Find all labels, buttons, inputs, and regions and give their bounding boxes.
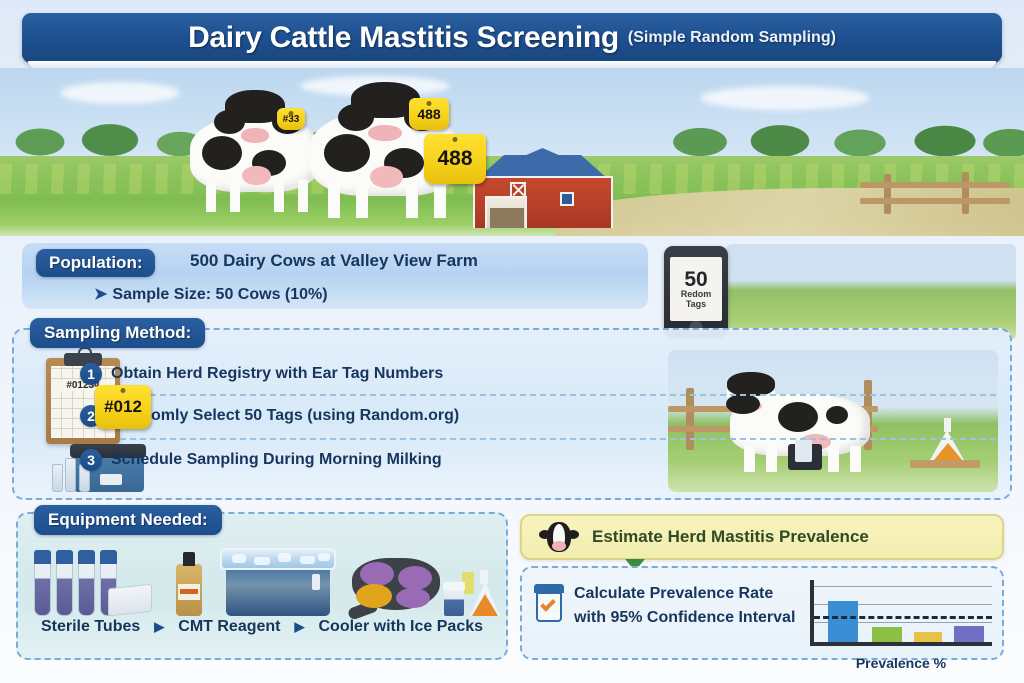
cooler-latch [312,574,320,590]
calculate-line-1: Calculate Prevalence Rate [574,582,795,606]
ear-tag-cow-2: 488 [409,98,449,130]
separator-triangle-icon: ▶ [295,619,305,635]
population-band: Population: 500 Dairy Cows at Valley Vie… [22,243,648,309]
step-number-badge: 1 [80,363,102,385]
cloud-icon [700,86,870,110]
sterile-tube-icon [78,550,95,616]
cooler-lid-with-ice [220,548,336,570]
milk-collection-jar [795,440,812,462]
header-bar: Dairy Cattle Mastitis Screening (Simple … [22,13,1002,63]
calculate-prevalence-panel: Calculate Prevalence Rate with 95% Confi… [520,566,1004,660]
chart-x-axis-label: Prevalence % [810,655,992,671]
sterile-tube-icon [56,550,73,616]
flask-liquid [472,594,498,616]
infographic-page: Dairy Cattle Mastitis Screening (Simple … [0,0,1024,683]
prevalence-bar-chart: Prevalence % [810,580,992,652]
chart-reference-line [814,616,992,619]
cow-head-icon [538,522,580,552]
cow-ear [338,104,374,131]
cow-muzzle [552,541,566,551]
equipment-item-1: CMT Reagent [178,618,280,636]
ear-tag-sample-icon: #012 [95,385,151,429]
cmt-paddle-icon [352,558,440,610]
step-number-badge: 3 [80,449,102,471]
calculate-text: Calculate Prevalence Rate with 95% Confi… [574,582,795,630]
chart-x-axis [810,642,992,646]
chart-y-axis [810,580,814,646]
paddle-well [356,584,392,608]
cow-leg [406,183,418,218]
barn-door [485,196,527,228]
cow-spot [778,402,818,432]
tube-cap [78,550,95,564]
phone-label-line2: Tags [686,300,706,310]
cow-head-marking [727,372,775,396]
bullet-arrow-icon: ➤ [94,286,107,303]
sample-vial [52,464,63,492]
cow-muzzle [241,128,270,143]
step-text: Randomly Select 50 Tags (using Random.or… [111,407,459,425]
cow-ear [726,394,760,414]
chart-bar [914,632,942,642]
calculate-line-2: with 95% Confidence Interval [574,606,795,630]
herd-photo-strip [726,244,1016,340]
cow-leg [230,180,240,212]
reagent-bottle-label [178,584,200,600]
tube-rack [108,584,152,617]
sample-size-text: Sample Size: 50 Cows (10%) [112,286,327,303]
step-text: Schedule Sampling During Morning Milking [111,451,442,469]
phone-sample-count: 50 [684,269,707,290]
chart-gridline [814,586,992,587]
specimen-jar-cap [443,582,465,590]
barn-door-interior [490,208,524,228]
cow-leg [744,446,755,472]
cow-leg [298,180,308,212]
cow-udder [242,166,271,186]
fence-post [686,388,694,450]
chart-bar [872,627,902,642]
flask-neck [480,570,488,584]
paddle-well [360,562,394,586]
paddle-well [398,566,432,590]
fence-rail [860,182,1010,188]
estimate-prevalence-banner: Estimate Herd Mastitis Prevalence [520,514,1004,560]
fence-rail [860,198,1010,204]
cloud-icon [60,82,180,104]
page-subtitle: (Simple Random Sampling) [628,29,836,47]
cow-spot [324,134,370,172]
phone-mockup: 50 Redom Tags [664,246,728,338]
tube-cap [100,550,117,564]
reagent-bottle-cap [183,552,195,566]
flask-liquid [934,443,962,460]
sterile-tube-icon [34,550,51,616]
paddle-well [396,588,430,608]
equipment-item-0: Sterile Tubes [41,618,140,636]
cow-leg [206,180,216,212]
tube-cap [34,550,51,564]
flask-neck [944,418,951,432]
equipment-item-labels: Sterile Tubes ▶ CMT Reagent ▶ Cooler wit… [16,618,508,636]
ice-cube [278,553,291,562]
ice-cube [318,553,330,561]
equipment-label: Equipment Needed: [34,505,222,535]
fence-post [962,172,969,214]
cow-leg [356,183,368,218]
cow-leg [274,180,284,212]
population-label: Population: [36,249,155,277]
header-underline [28,61,996,68]
cow-leg [850,446,861,472]
chart-bar [828,601,858,642]
cow-udder [370,166,403,188]
sample-size-line: ➤Sample Size: 50 Cows (10%) [94,284,328,304]
sample-vial [65,458,76,492]
population-value: 500 Dairy Cows at Valley View Farm [190,251,478,271]
cow-ear [214,110,245,134]
separator-triangle-icon: ▶ [154,619,164,635]
chart-bar [954,626,984,642]
barn-side-window [560,192,574,206]
cow-leg [328,183,340,218]
banner-text: Estimate Herd Mastitis Prevalence [592,527,869,547]
ice-cube [254,557,270,565]
milking-scene-illustration [668,350,998,492]
sample-table [910,460,980,468]
cow-spot [202,136,242,170]
cow-spot [826,406,848,424]
cow-leg [766,446,777,472]
sample-jar-check-icon [534,584,564,622]
tube-cap [56,550,73,564]
sampling-step-3: 3 Schedule Sampling During Morning Milki… [80,440,600,480]
cooler-icon [226,564,330,616]
equipment-illustration [30,540,496,616]
cow-muzzle [368,125,401,141]
phone-screen: 50 Redom Tags [670,257,722,321]
hero-farm-scene: #33 488 488 #123 #367 #482 [0,68,1024,236]
sampling-step-2: 2 Randomly Select 50 Tags (using Random.… [80,396,600,436]
step-text: Obtain Herd Registry with Ear Tag Number… [111,365,443,383]
equipment-item-2: Cooler with Ice Packs [319,618,484,636]
sampling-step-1: 1 Obtain Herd Registry with Ear Tag Numb… [80,354,600,394]
ice-cube [300,556,315,564]
specimen-jar-icon [444,588,464,616]
sampling-method-label: Sampling Method: [30,318,205,348]
ear-tag-cow-3: 488 [424,134,486,184]
page-title: Dairy Cattle Mastitis Screening [188,21,619,55]
ear-tag-cow-1: #33 [277,108,305,130]
cow-leg [828,446,839,472]
cow-leg [434,183,446,218]
ice-cube [232,554,246,563]
fence-post [884,174,891,214]
